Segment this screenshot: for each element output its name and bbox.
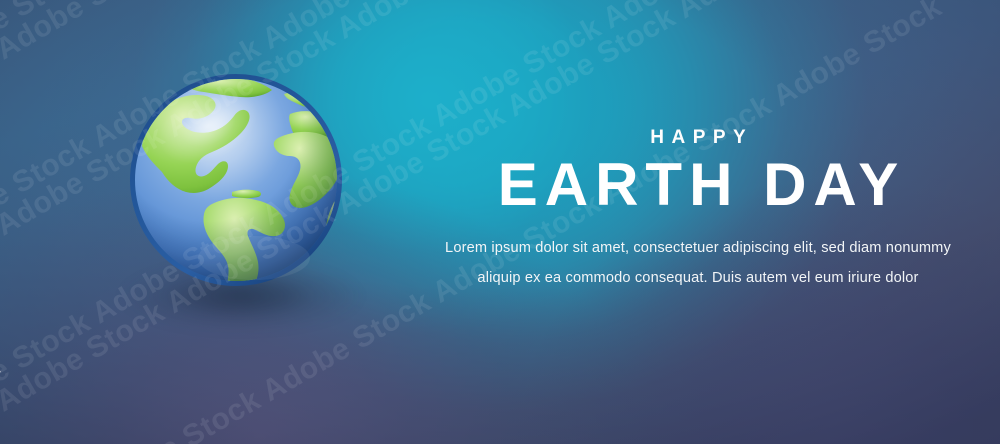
globe-svg	[128, 72, 344, 288]
body-paragraph: Lorem ipsum dolor sit amet, consectetuer…	[440, 233, 956, 293]
earth-day-banner: HAPPY EARTH DAY Lorem ipsum dolor sit am…	[0, 0, 1000, 444]
earth-globe-illustration	[128, 72, 344, 288]
watermark-credit: Adobe Stock | #965351265	[0, 307, 2, 438]
globe-rim-accent	[324, 99, 340, 110]
page-title: EARTH DAY	[440, 155, 956, 215]
text-block: HAPPY EARTH DAY Lorem ipsum dolor sit am…	[440, 128, 956, 293]
globe-bounce-light	[198, 236, 310, 280]
eyebrow-happy: HAPPY	[440, 128, 956, 147]
